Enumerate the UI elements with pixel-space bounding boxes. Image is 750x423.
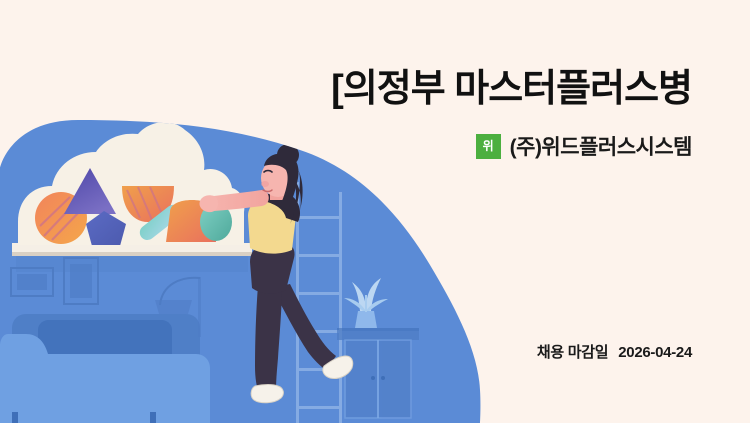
title-row: [의정부 마스터플러스병 xyxy=(331,68,692,112)
company-row: 위 (주)위드플러스시스템 xyxy=(476,131,692,161)
page-title: [의정부 마스터플러스병 xyxy=(331,68,692,112)
sofa xyxy=(0,314,210,423)
company-badge: 위 xyxy=(476,134,501,159)
deadline-label: 채용 마감일 xyxy=(537,341,608,362)
company-name: (주)위드플러스시스템 xyxy=(510,131,692,161)
job-posting-banner: [의정부 마스터플러스병 위 (주)위드플러스시스템 채용 마감일 2026-0… xyxy=(0,0,750,423)
deadline-row: 채용 마감일 2026-04-24 xyxy=(537,341,692,362)
deadline-date: 2026-04-24 xyxy=(618,344,692,361)
cabinet xyxy=(337,328,419,418)
shelf xyxy=(12,243,252,272)
